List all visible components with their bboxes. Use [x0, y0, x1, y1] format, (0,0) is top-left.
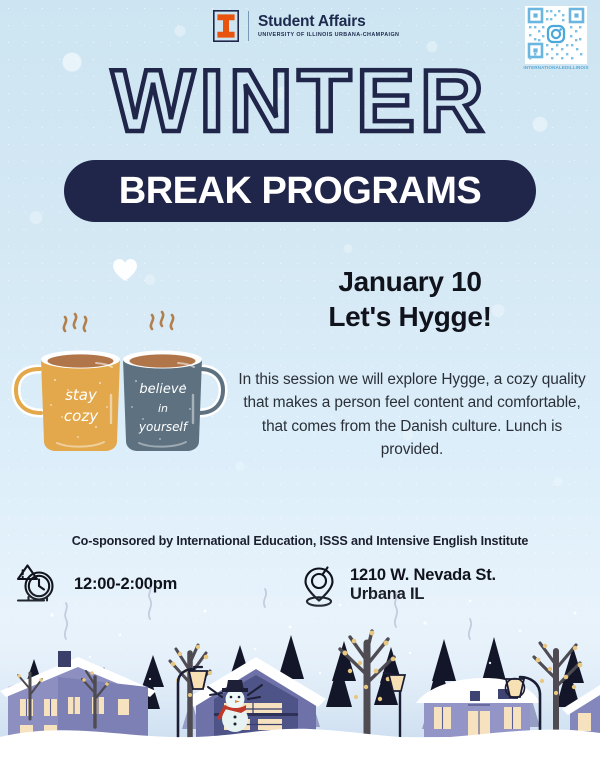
- mug-right-text-line1: believe: [139, 382, 186, 397]
- mug-right-text-line3: yourself: [138, 420, 189, 434]
- mug-right: believe in yourself: [123, 351, 223, 452]
- heart-doodle-icon: [112, 258, 138, 282]
- mug-right-text-line2: in: [158, 402, 168, 415]
- mug-left-text-line2: cozy: [64, 407, 99, 425]
- title-band: BREAK PROGRAMS: [64, 160, 536, 222]
- mug-left: stay cozy: [16, 351, 120, 452]
- logo-unit-name: Student Affairs: [258, 14, 399, 30]
- page-title-winter: WINTER: [0, 57, 600, 145]
- session-name: Let's Hygge!: [240, 299, 580, 334]
- page-title-break-programs: BREAK PROGRAMS: [119, 170, 481, 213]
- session-heading: January 10 Let's Hygge!: [240, 264, 580, 334]
- illinois-block-i-icon: [213, 10, 239, 42]
- two-mugs-illustration: stay cozy believe in yourself: [10, 295, 230, 475]
- winter-break-programs-flyer: Student Affairs UNIVERSITY OF ILLINOIS U…: [0, 0, 600, 777]
- session-description: In this session we will explore Hygge, a…: [238, 368, 586, 462]
- logo-divider: [248, 11, 249, 41]
- mug-left-text-line1: stay: [65, 386, 98, 404]
- location-line1: 1210 W. Nevada St.: [350, 566, 496, 585]
- qr-code-icon[interactable]: [525, 6, 587, 64]
- illinois-student-affairs-logo: Student Affairs UNIVERSITY OF ILLINOIS U…: [213, 10, 399, 42]
- session-date: January 10: [240, 264, 580, 299]
- winter-village-icon: [0, 587, 600, 777]
- logo-university-name: UNIVERSITY OF ILLINOIS URBANA-CHAMPAIGN: [258, 33, 399, 38]
- steam-icon: [64, 314, 86, 331]
- cosponsor-line: Co-sponsored by International Education,…: [0, 534, 600, 548]
- instagram-icon: [548, 26, 564, 42]
